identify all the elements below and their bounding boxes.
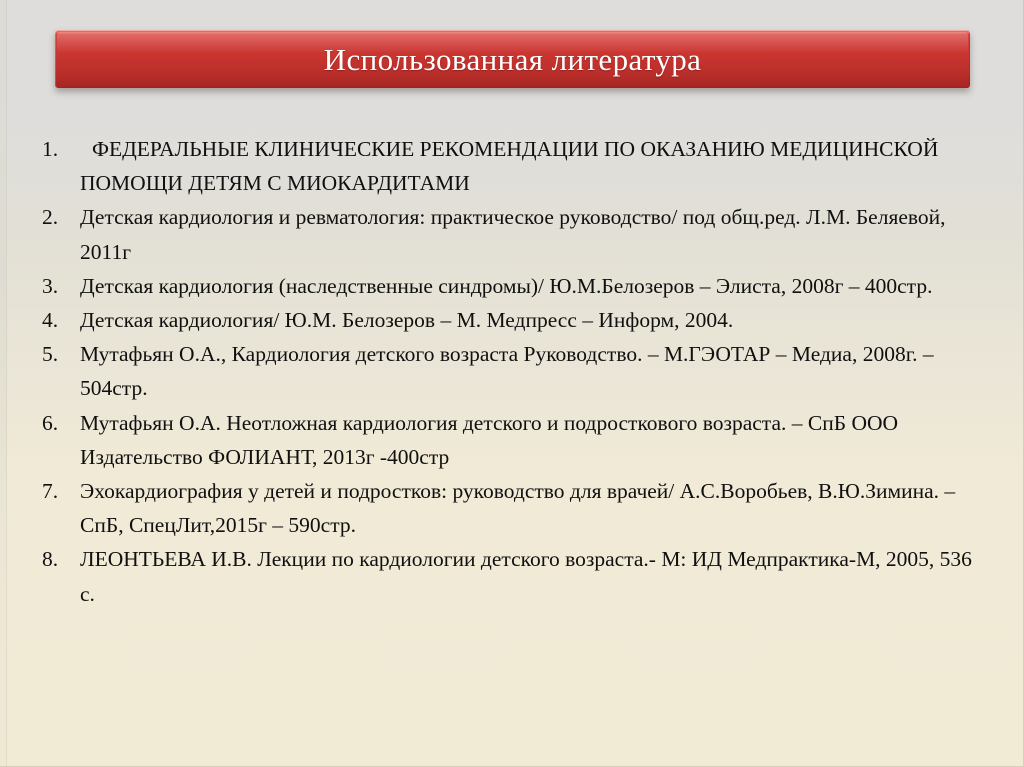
list-item-number: 1. bbox=[36, 132, 80, 166]
list-item: 8. ЛЕОНТЬЕВА И.В. Лекции по кардиологии … bbox=[36, 542, 991, 610]
list-item-number: 5. bbox=[36, 337, 80, 371]
page-title: Использованная литература bbox=[324, 44, 702, 75]
slide-left-edge bbox=[0, 0, 7, 767]
list-item: 5. Мутафьян О.А., Кардиология детского в… bbox=[36, 337, 991, 405]
list-item: 3. Детская кардиология (наследственные с… bbox=[36, 269, 991, 303]
list-item: 6. Мутафьян О.А. Неотложная кардиология … bbox=[36, 406, 991, 474]
list-item-number: 6. bbox=[36, 406, 80, 440]
list-item-text: Мутафьян О.А. Неотложная кардиология дет… bbox=[80, 406, 991, 474]
reference-list: 1. ФЕДЕРАЛЬНЫЕ КЛИНИЧЕСКИЕ РЕКОМЕНДАЦИИ … bbox=[36, 132, 991, 611]
list-item: 1. ФЕДЕРАЛЬНЫЕ КЛИНИЧЕСКИЕ РЕКОМЕНДАЦИИ … bbox=[36, 132, 991, 200]
list-item-text: ЛЕОНТЬЕВА И.В. Лекции по кардиологии дет… bbox=[80, 542, 991, 610]
list-item-number: 7. bbox=[36, 474, 80, 508]
list-item-number: 2. bbox=[36, 200, 80, 234]
list-item-text: Детская кардиология и ревматология: прак… bbox=[80, 200, 991, 268]
list-item-text: Детская кардиология (наследственные синд… bbox=[80, 269, 991, 303]
list-item-text: ФЕДЕРАЛЬНЫЕ КЛИНИЧЕСКИЕ РЕКОМЕНДАЦИИ ПО … bbox=[80, 132, 991, 200]
list-item-text: Мутафьян О.А., Кардиология детского возр… bbox=[80, 337, 991, 405]
list-item: 4. Детская кардиология/ Ю.М. Белозеров –… bbox=[36, 303, 991, 337]
list-item: 7. Эхокардиография у детей и подростков:… bbox=[36, 474, 991, 542]
list-item-number: 8. bbox=[36, 542, 80, 576]
list-item: 2. Детская кардиология и ревматология: п… bbox=[36, 200, 991, 268]
list-item-number: 4. bbox=[36, 303, 80, 337]
list-item-text: Эхокардиография у детей и подростков: ру… bbox=[80, 474, 991, 542]
list-item-number: 3. bbox=[36, 269, 80, 303]
slide: Использованная литература 1. ФЕДЕРАЛЬНЫЕ… bbox=[0, 0, 1024, 767]
title-banner: Использованная литература bbox=[55, 30, 970, 88]
list-item-text: Детская кардиология/ Ю.М. Белозеров – М.… bbox=[80, 303, 991, 337]
